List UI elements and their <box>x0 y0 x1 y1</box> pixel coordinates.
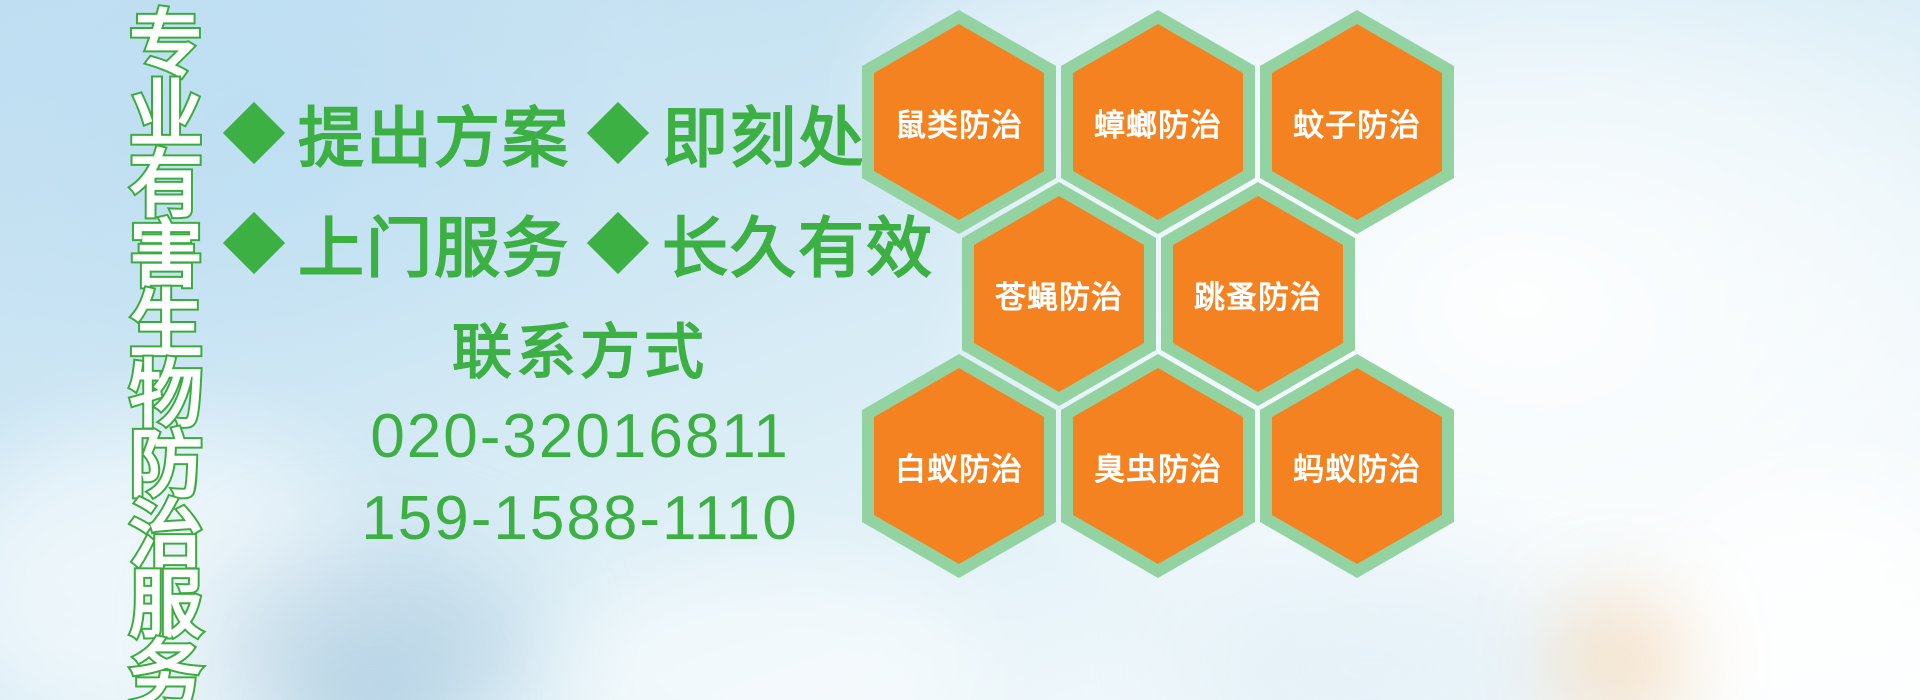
background-blob <box>1560 600 1680 700</box>
hex-inner: 苍蝇防治 <box>974 196 1144 392</box>
contact-phone-landline[interactable]: 020-32016811 <box>300 396 860 478</box>
hex-inner: 蚊子防治 <box>1272 24 1442 220</box>
vertical-headline-char: 物 <box>129 360 203 430</box>
service-hex-termite[interactable]: 白蚁防治 <box>862 354 1056 578</box>
diamond-bullet-icon <box>223 212 285 274</box>
vertical-headline-char: 业 <box>129 80 203 150</box>
slogan-text: 上门服务 <box>298 195 570 291</box>
vertical-headline-char: 害 <box>129 220 203 290</box>
slogan-row: 提出方案 即刻处理 <box>232 78 872 188</box>
hex-inner: 臭虫防治 <box>1073 368 1243 564</box>
background-blob <box>1640 470 1920 700</box>
service-hex-rodent[interactable]: 鼠类防治 <box>862 10 1056 234</box>
diamond-bullet-icon <box>223 102 285 164</box>
vertical-headline-char: 务 <box>129 640 203 700</box>
contact-title: 联系方式 <box>300 310 860 396</box>
service-label: 白蚁防治 <box>895 444 1023 489</box>
service-label: 跳蚤防治 <box>1194 272 1322 317</box>
hex-inner: 蚂蚁防治 <box>1272 368 1442 564</box>
hex-inner: 蟑螂防治 <box>1073 24 1243 220</box>
diamond-bullet-icon <box>587 212 649 274</box>
service-label: 臭虫防治 <box>1094 444 1222 489</box>
vertical-headline-char: 专 <box>129 10 203 80</box>
service-hex-grid: 鼠类防治 蟑螂防治 蚊子防治 苍蝇防治 跳蚤防治 白蚁防治 <box>862 2 1462 700</box>
service-label: 鼠类防治 <box>895 100 1023 145</box>
vertical-headline-char: 服 <box>129 570 203 640</box>
vertical-headline-char: 治 <box>129 500 203 570</box>
background-blob <box>300 650 450 700</box>
vertical-headline-char: 生 <box>129 290 203 360</box>
hex-inner: 白蚁防治 <box>874 368 1044 564</box>
service-label: 蟑螂防治 <box>1094 100 1222 145</box>
background-blob <box>210 540 540 700</box>
slogan-row: 上门服务 长久有效 <box>232 188 872 298</box>
vertical-headline-char: 有 <box>129 150 203 220</box>
service-label: 苍蝇防治 <box>995 272 1123 317</box>
diamond-bullet-icon <box>587 102 649 164</box>
service-label: 蚂蚁防治 <box>1293 444 1421 489</box>
vertical-headline: 专 业 有 害 生 物 防 治 服 务 <box>112 10 220 700</box>
contact-block: 联系方式 020-32016811 159-1588-1110 <box>300 310 860 560</box>
service-label: 蚊子防治 <box>1293 100 1421 145</box>
contact-phone-mobile[interactable]: 159-1588-1110 <box>300 478 860 560</box>
slogan-text: 提出方案 <box>298 85 570 181</box>
hex-inner: 跳蚤防治 <box>1173 196 1343 392</box>
slogan-list: 提出方案 即刻处理 上门服务 长久有效 <box>232 78 872 298</box>
vertical-headline-char: 防 <box>129 430 203 500</box>
hex-inner: 鼠类防治 <box>874 24 1044 220</box>
pest-control-banner: 专 业 有 害 生 物 防 治 服 务 提出方案 即刻处理 上门服务 长久有效 … <box>0 0 1920 700</box>
